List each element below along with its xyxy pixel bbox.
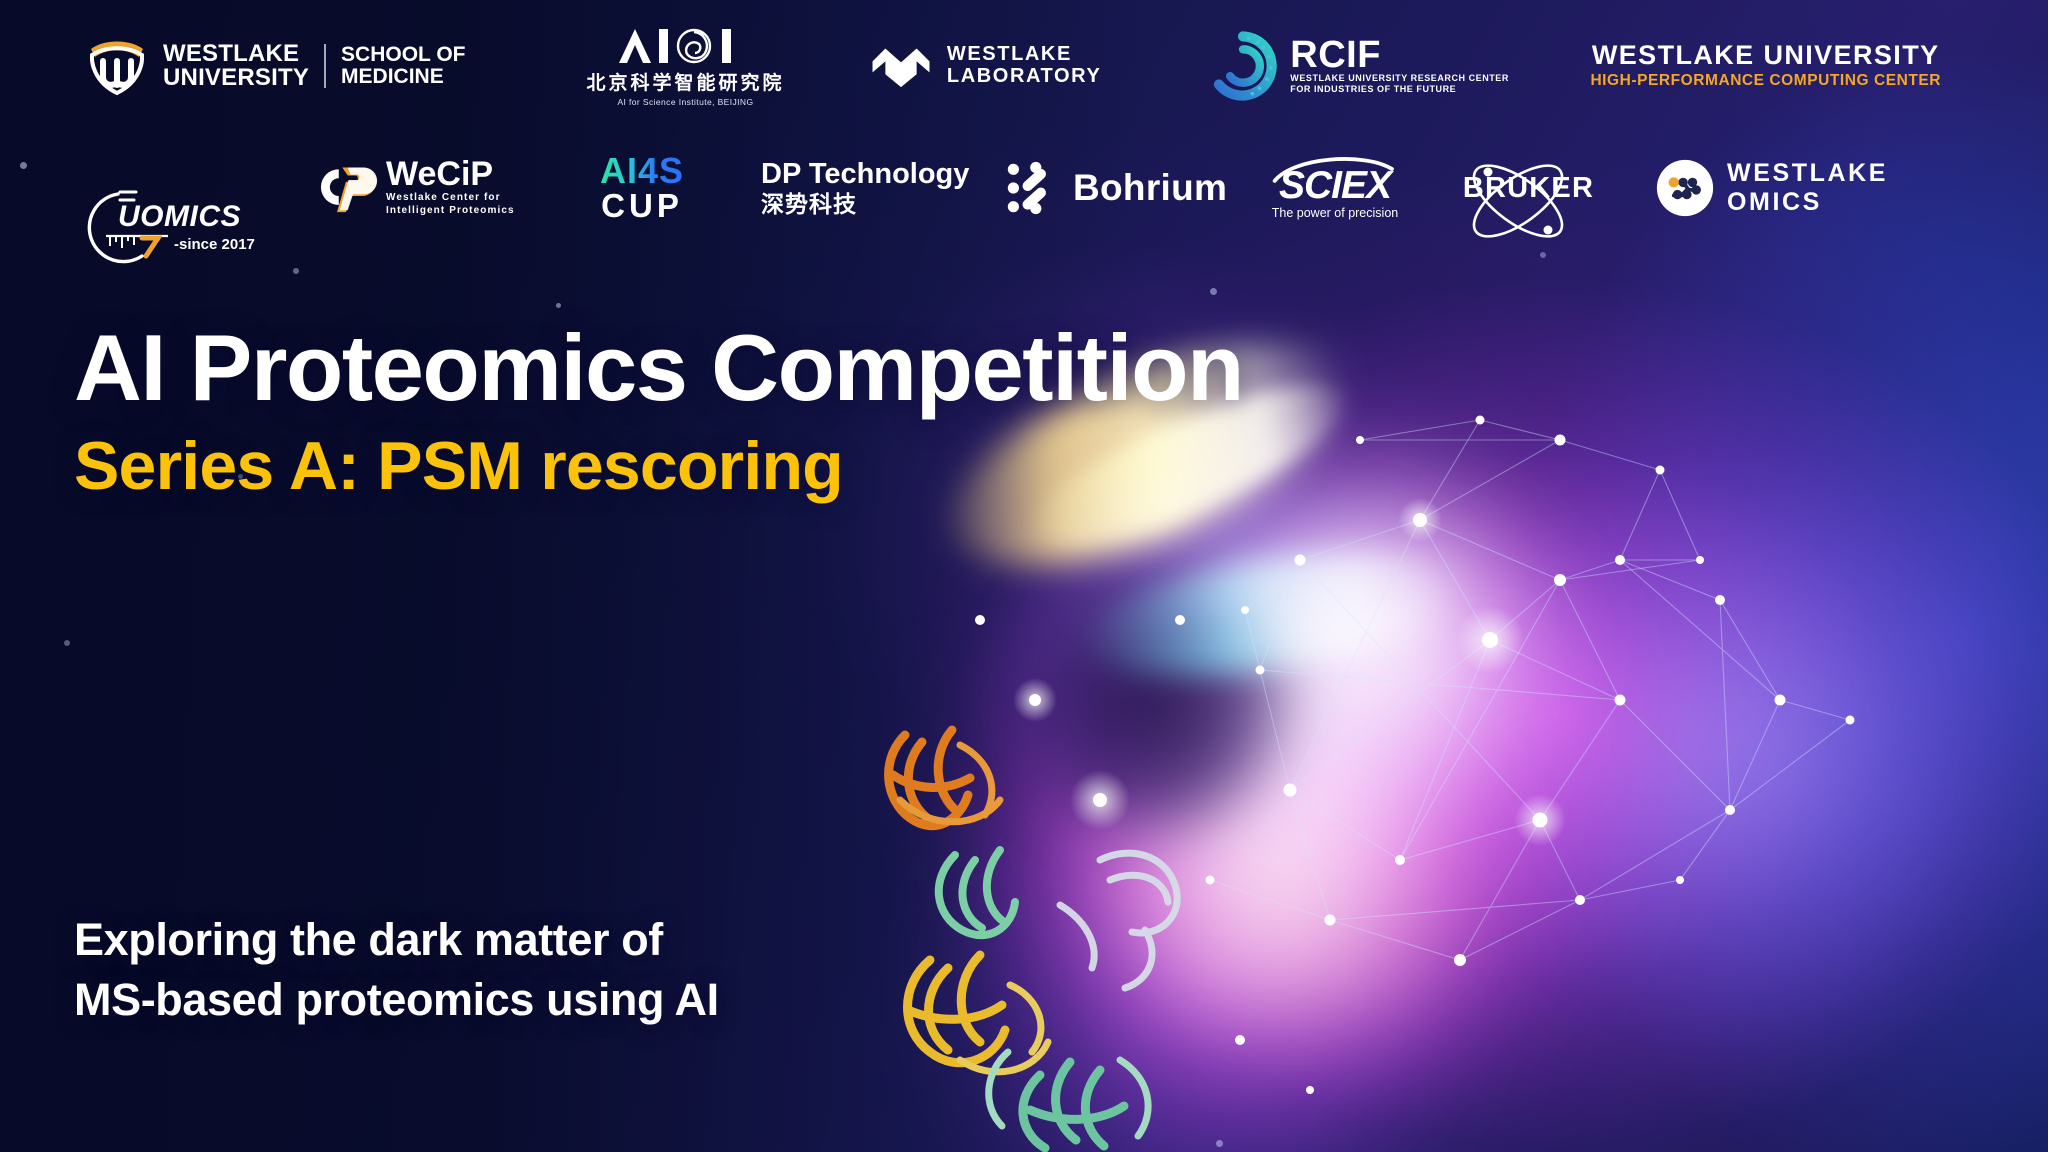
decor-dot bbox=[293, 268, 299, 274]
logo-divider bbox=[324, 44, 326, 88]
uomics-since-label: -since 2017 bbox=[174, 236, 255, 253]
wecip-name: WeCiP bbox=[386, 158, 515, 190]
bruker-wordmark: BRUKER bbox=[1463, 172, 1594, 205]
logo-dp-technology: DP Technology 深势科技 bbox=[761, 159, 981, 217]
decor-dot bbox=[556, 303, 561, 308]
tagline-line-2: MS-based proteomics using AI bbox=[74, 970, 719, 1030]
page-title: AI Proteomics Competition bbox=[74, 320, 1243, 416]
wecip-sub-line-1: Westlake Center for bbox=[386, 191, 515, 205]
promotional-banner: WESTLAKE UNIVERSITY SCHOOL OF MEDICINE bbox=[0, 0, 2048, 1152]
rcif-sub-line-1: WESTLAKE UNIVERSITY RESEARCH CENTER bbox=[1290, 73, 1509, 84]
logo-aisi: 北京科学智能研究院 AI for Science Institute, BEIJ… bbox=[564, 25, 807, 107]
logo-westlake-university-school-of-medicine: WESTLAKE UNIVERSITY SCHOOL OF MEDICINE bbox=[84, 35, 540, 97]
wecip-sub-line-2: Intelligent Proteomics bbox=[386, 204, 515, 218]
hpc-line-2: HIGH-PERFORMANCE COMPUTING CENTER bbox=[1590, 71, 1941, 91]
logo-sciex: SCIEX The power of precision bbox=[1260, 156, 1410, 220]
westlake-lab-hex-icon bbox=[867, 37, 935, 95]
rcif-sub-line-2: FOR INDUSTRIES OF THE FUTURE bbox=[1290, 84, 1509, 95]
logo-westlake-omics: WESTLAKE OMICS bbox=[1655, 158, 1905, 218]
bohrium-wordmark: Bohrium bbox=[1073, 167, 1227, 209]
uomics-wordmark: UOMICS bbox=[118, 200, 241, 234]
westlake-university-wordmark: WESTLAKE UNIVERSITY bbox=[163, 42, 309, 91]
logo-ai4s-cup: AI4S CUP bbox=[557, 153, 727, 224]
sponsor-logo-row-secondary: UOMICS -since 2017 WeCiP Westlake Center… bbox=[84, 150, 1964, 226]
dp-technology-wordmark: DP Technology bbox=[761, 159, 969, 191]
aisi-spiral-icon bbox=[615, 25, 755, 65]
ai4s-wordmark: AI4S bbox=[600, 153, 684, 189]
dp-technology-chinese: 深势科技 bbox=[761, 191, 857, 217]
wordmark-line-1: WESTLAKE bbox=[947, 44, 1102, 66]
westlake-laboratory-wordmark: WESTLAKE LABORATORY bbox=[947, 44, 1102, 87]
wordmark-line-2: LABORATORY bbox=[947, 66, 1102, 88]
rcif-acronym: RCIF bbox=[1290, 37, 1509, 73]
aisi-english-name: AI for Science Institute, BEIJING bbox=[617, 97, 753, 107]
westlake-shield-icon bbox=[84, 35, 150, 97]
logo-rcif: RCIF WESTLAKE UNIVERSITY RESEARCH CENTER… bbox=[1206, 29, 1533, 103]
decor-dot bbox=[1216, 1140, 1223, 1147]
sub-line-2: MEDICINE bbox=[341, 66, 465, 88]
school-of-medicine-label: SCHOOL OF MEDICINE bbox=[341, 44, 465, 88]
wordmark-line-2: UNIVERSITY bbox=[163, 66, 309, 90]
logo-wecip: WeCiP Westlake Center for Intelligent Pr… bbox=[312, 158, 527, 217]
wordmark-line-1: WESTLAKE bbox=[163, 42, 309, 66]
decor-dot bbox=[20, 162, 27, 169]
decor-dot bbox=[1540, 252, 1546, 258]
logo-bohrium: Bohrium bbox=[1005, 160, 1240, 216]
westlake-omics-dots-icon bbox=[1655, 158, 1715, 218]
headline-block: AI Proteomics Competition Series A: PSM … bbox=[74, 320, 1243, 504]
sciex-swoosh-icon bbox=[1260, 152, 1410, 186]
decor-dot bbox=[1210, 288, 1217, 295]
aisi-chinese-name: 北京科学智能研究院 bbox=[586, 68, 784, 95]
logo-westlake-hpc-center: WESTLAKE UNIVERSITY HIGH-PERFORMANCE COM… bbox=[1567, 40, 1964, 91]
sub-line-1: SCHOOL OF bbox=[341, 44, 465, 66]
page-subtitle: Series A: PSM rescoring bbox=[74, 428, 1243, 504]
tagline-block: Exploring the dark matter of MS-based pr… bbox=[74, 910, 719, 1030]
tagline-line-1: Exploring the dark matter of bbox=[74, 910, 719, 970]
logo-westlake-laboratory: WESTLAKE LABORATORY bbox=[867, 37, 1164, 95]
hpc-line-1: WESTLAKE UNIVERSITY bbox=[1592, 40, 1940, 71]
sciex-tagline: The power of precision bbox=[1272, 206, 1398, 220]
sponsor-logo-row-primary: WESTLAKE UNIVERSITY SCHOOL OF MEDICINE bbox=[84, 30, 1964, 102]
wecip-cp-icon bbox=[312, 160, 378, 216]
rcif-wordmark: RCIF WESTLAKE UNIVERSITY RESEARCH CENTER… bbox=[1290, 37, 1509, 96]
wecip-wordmark: WeCiP Westlake Center for Intelligent Pr… bbox=[386, 158, 515, 217]
wordmark-line-1: WESTLAKE bbox=[1727, 159, 1888, 189]
logo-bruker: BRUKER bbox=[1436, 172, 1621, 205]
bohrium-dots-icon bbox=[1005, 160, 1061, 216]
rcif-spiral-ring-icon bbox=[1206, 29, 1280, 103]
wordmark-line-2: OMICS bbox=[1727, 188, 1888, 218]
ai4s-cup-label: CUP bbox=[601, 189, 683, 224]
decor-dot bbox=[64, 640, 70, 646]
westlake-omics-wordmark: WESTLAKE OMICS bbox=[1727, 159, 1888, 218]
